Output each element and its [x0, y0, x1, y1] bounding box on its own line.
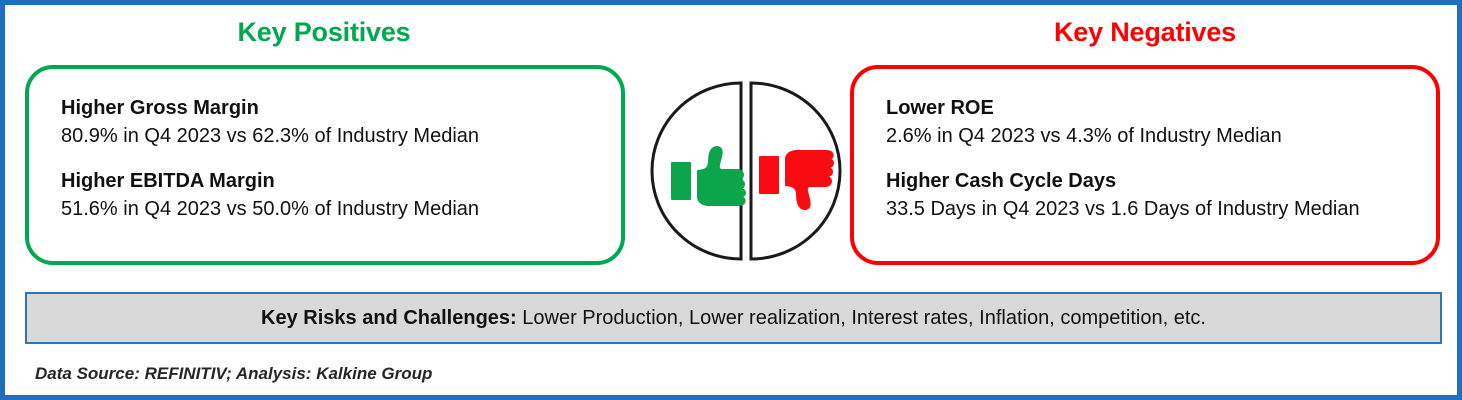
key-negatives-box: Lower ROE 2.6% in Q4 2023 vs 4.3% of Ind…: [850, 65, 1440, 265]
positive-item-title: Higher Gross Margin: [61, 95, 621, 123]
infographic-panel: Key Positives Key Negatives Higher Gross…: [0, 0, 1462, 400]
data-source-note: Data Source: REFINITIV; Analysis: Kalkin…: [35, 364, 432, 384]
negative-item-title: Higher Cash Cycle Days: [886, 168, 1436, 196]
key-positives-box: Higher Gross Margin 80.9% in Q4 2023 vs …: [25, 65, 625, 265]
negative-item: Higher Cash Cycle Days 33.5 Days in Q4 2…: [886, 168, 1436, 223]
key-negatives-heading: Key Negatives: [845, 17, 1445, 48]
positive-item-detail: 51.6% in Q4 2023 vs 50.0% of Industry Me…: [61, 196, 621, 224]
positive-item-title: Higher EBITDA Margin: [61, 168, 621, 196]
negative-item: Lower ROE 2.6% in Q4 2023 vs 4.3% of Ind…: [886, 95, 1436, 150]
key-risks-body: Lower Production, Lower realization, Int…: [517, 307, 1206, 329]
positive-item-detail: 80.9% in Q4 2023 vs 62.3% of Industry Me…: [61, 123, 621, 151]
negative-item-title: Lower ROE: [886, 95, 1436, 123]
key-risks-text: Key Risks and Challenges: Lower Producti…: [261, 307, 1206, 330]
positive-item: Higher Gross Margin 80.9% in Q4 2023 vs …: [61, 95, 621, 150]
thumbs-up-down-split-circle-icon: [647, 78, 843, 264]
key-risks-label: Key Risks and Challenges:: [261, 307, 517, 329]
negative-item-detail: 33.5 Days in Q4 2023 vs 1.6 Days of Indu…: [886, 196, 1436, 224]
key-risks-bar: Key Risks and Challenges: Lower Producti…: [25, 292, 1442, 344]
negative-item-detail: 2.6% in Q4 2023 vs 4.3% of Industry Medi…: [886, 123, 1436, 151]
positive-item: Higher EBITDA Margin 51.6% in Q4 2023 vs…: [61, 168, 621, 223]
key-positives-heading: Key Positives: [19, 17, 629, 48]
